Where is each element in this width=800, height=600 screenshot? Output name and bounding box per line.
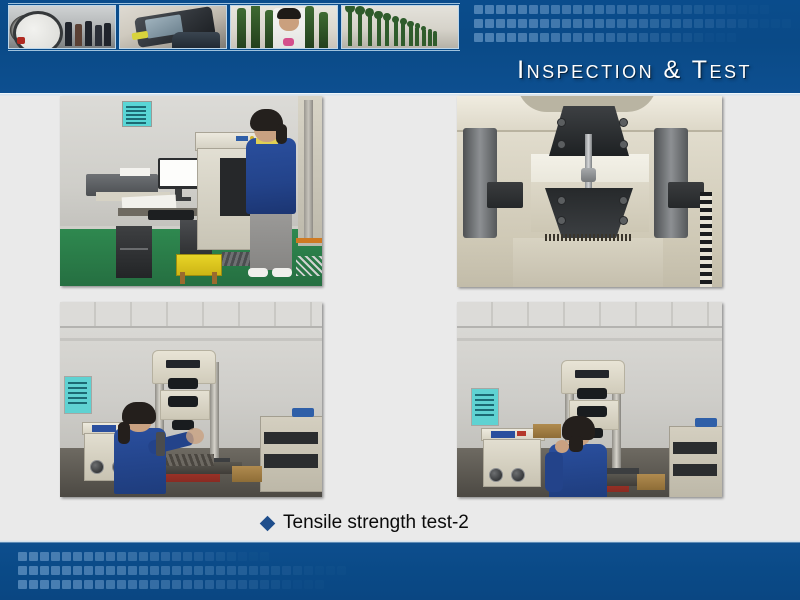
pattern-square — [595, 33, 604, 42]
pattern-square — [573, 33, 582, 42]
pattern-square — [628, 33, 637, 42]
pattern-square — [205, 580, 214, 589]
pattern-square — [716, 19, 725, 28]
debris-line — [545, 234, 631, 241]
column-collar-right — [668, 182, 704, 208]
console-display — [92, 425, 116, 432]
pattern-square — [661, 33, 670, 42]
pattern-square — [139, 552, 148, 561]
pattern-square — [540, 19, 549, 28]
pattern-square — [117, 580, 126, 589]
pattern-square — [672, 5, 681, 14]
pattern-square — [205, 552, 214, 561]
caption-text: Tensile strength test-2 — [283, 512, 469, 534]
pattern-square — [617, 19, 626, 28]
valve-head-shape — [374, 11, 382, 19]
technician-ponytail — [276, 124, 287, 144]
pattern-square — [216, 552, 225, 561]
technician-legs — [250, 212, 292, 270]
pattern-square — [529, 5, 538, 14]
pattern-square — [683, 5, 692, 14]
machine-column — [304, 100, 313, 240]
pattern-square — [106, 552, 115, 561]
pattern-square — [540, 5, 549, 14]
grip-bolt — [557, 216, 566, 225]
pattern-square — [73, 566, 82, 575]
pattern-square — [117, 552, 126, 561]
grip-upper — [168, 378, 198, 389]
pattern-square — [639, 19, 648, 28]
photo-image — [60, 96, 322, 286]
pattern-square — [315, 566, 324, 575]
pattern-square — [738, 19, 747, 28]
bottle-shape — [237, 8, 246, 48]
figure-shape — [104, 23, 111, 46]
wooden-box — [637, 474, 665, 490]
valve-head-shape — [365, 8, 374, 17]
grip-bolt — [619, 118, 628, 127]
pattern-square — [293, 566, 302, 575]
pattern-square — [84, 580, 93, 589]
pattern-square — [507, 33, 516, 42]
photo-bottom-right — [457, 302, 722, 497]
pattern-square — [518, 5, 527, 14]
valve-post-shape — [401, 24, 405, 46]
pattern-square — [617, 33, 626, 42]
pattern-square — [172, 566, 181, 575]
technician-shoe — [248, 268, 268, 277]
stool-leg — [212, 272, 217, 284]
pattern-square — [573, 19, 582, 28]
grip-bolt — [619, 216, 628, 225]
pattern-square — [315, 580, 324, 589]
valve-post-shape — [385, 20, 389, 46]
pattern-square — [271, 580, 280, 589]
pattern-square — [562, 19, 571, 28]
pattern-square — [694, 19, 703, 28]
pattern-square — [584, 19, 593, 28]
pattern-square — [293, 580, 302, 589]
pattern-square — [672, 19, 681, 28]
console-knob — [489, 468, 503, 482]
pattern-square — [529, 19, 538, 28]
valve-post-shape — [394, 22, 398, 46]
pattern-square — [595, 5, 604, 14]
figure-shape — [65, 22, 72, 46]
thumbnail-lab-technician-bottles — [230, 5, 338, 49]
wire-bundle — [296, 256, 322, 276]
technician-hair-shape — [277, 8, 301, 19]
pattern-square — [73, 580, 82, 589]
valve-head-shape — [415, 23, 421, 29]
grip-bolt — [557, 196, 566, 205]
shelf-contents — [264, 454, 318, 468]
pattern-square — [326, 566, 335, 575]
pattern-square — [62, 580, 71, 589]
pattern-square — [672, 33, 681, 42]
pattern-square — [606, 5, 615, 14]
pattern-square — [238, 566, 247, 575]
valve-head-shape — [407, 21, 413, 27]
measuring-scale — [700, 192, 712, 287]
pattern-square — [716, 33, 725, 42]
pattern-square — [150, 552, 159, 561]
pattern-square — [485, 19, 494, 28]
wall-notice-sign — [122, 101, 152, 127]
pattern-square — [29, 566, 38, 575]
pattern-square — [584, 5, 593, 14]
pattern-square — [507, 5, 516, 14]
pattern-square — [650, 19, 659, 28]
machine-accent — [296, 238, 322, 243]
valve-post-shape — [422, 30, 426, 46]
pattern-square — [62, 552, 71, 561]
valve-post-shape — [358, 14, 362, 46]
figure-shape — [85, 21, 92, 46]
pattern-square — [639, 33, 648, 42]
thumbnail-tank-inspection-tour — [8, 5, 116, 49]
pattern-square — [29, 552, 38, 561]
pendant-control — [156, 432, 165, 456]
pattern-square — [183, 566, 192, 575]
pattern-square — [705, 33, 714, 42]
wall-notice-sign — [64, 376, 92, 414]
pattern-square — [183, 580, 192, 589]
equipment-display — [236, 136, 248, 141]
valve-post-shape — [409, 26, 413, 46]
pattern-square — [84, 552, 93, 561]
photo-image — [457, 302, 722, 497]
pattern-square — [260, 552, 269, 561]
thumbnail-green-valve-row — [341, 5, 459, 49]
operator-hand-shape — [172, 32, 220, 48]
pattern-square — [161, 580, 170, 589]
pattern-square — [139, 580, 148, 589]
pattern-square — [562, 33, 571, 42]
technician-shoe — [272, 268, 292, 277]
pattern-square — [51, 552, 60, 561]
pattern-square — [518, 19, 527, 28]
pattern-square — [304, 566, 313, 575]
pattern-square — [18, 580, 27, 589]
pattern-square — [606, 33, 615, 42]
console-knob — [90, 460, 104, 474]
blue-case — [695, 418, 717, 427]
stool-leg — [180, 272, 185, 284]
pattern-square — [661, 19, 670, 28]
valve-post-shape — [428, 32, 432, 46]
pattern-square — [573, 5, 582, 14]
pattern-square — [29, 580, 38, 589]
pattern-square — [194, 552, 203, 561]
pattern-square — [183, 552, 192, 561]
photo-bottom-left — [60, 302, 322, 497]
pattern-square — [249, 580, 258, 589]
valve-head-shape — [392, 16, 399, 23]
pattern-square — [650, 33, 659, 42]
wall-notice-sign — [471, 388, 499, 426]
pattern-square — [95, 552, 104, 561]
pattern-square — [337, 566, 346, 575]
pattern-square — [716, 5, 725, 14]
wall-seam — [457, 338, 722, 341]
grip-bolt — [619, 140, 628, 149]
pattern-square — [95, 580, 104, 589]
pattern-square — [749, 5, 758, 14]
pattern-square — [694, 33, 703, 42]
pattern-square — [18, 566, 27, 575]
photo-top-right — [457, 96, 722, 287]
pattern-square — [628, 5, 637, 14]
pattern-square — [73, 552, 82, 561]
technician-hand — [555, 440, 569, 453]
valve-head-shape — [400, 18, 407, 25]
pattern-square — [172, 580, 181, 589]
wooden-box — [232, 466, 262, 482]
grip-lower — [168, 396, 198, 407]
pattern-square — [727, 19, 736, 28]
ceiling-tiles — [457, 302, 722, 328]
pattern-square — [694, 5, 703, 14]
photo-image — [60, 302, 322, 497]
pattern-square — [496, 19, 505, 28]
bottle-shape — [251, 5, 260, 48]
pattern-square — [150, 580, 159, 589]
pattern-square — [260, 580, 269, 589]
pattern-square — [194, 580, 203, 589]
pattern-square — [139, 566, 148, 575]
pattern-square — [474, 19, 483, 28]
technician-body — [246, 138, 296, 214]
machine-nameplate — [575, 370, 609, 378]
pattern-square — [84, 566, 93, 575]
technician-ponytail — [118, 422, 130, 444]
pattern-square — [683, 33, 692, 42]
pattern-square — [128, 552, 137, 561]
pattern-square — [271, 566, 280, 575]
diamond-bullet-icon — [260, 515, 276, 531]
pattern-square — [529, 33, 538, 42]
pattern-square — [62, 566, 71, 575]
pattern-square — [595, 19, 604, 28]
paper-shape — [120, 168, 150, 176]
valve-head-shape — [433, 31, 437, 35]
technician-ponytail — [569, 436, 583, 452]
machine-base — [513, 238, 663, 287]
pattern-square — [40, 566, 49, 575]
thumbnail-handheld-analyzer — [119, 5, 227, 49]
pattern-square — [705, 5, 714, 14]
pattern-square — [474, 5, 483, 14]
pattern-square — [95, 566, 104, 575]
technician-arm — [545, 452, 563, 492]
pattern-square — [238, 580, 247, 589]
metal-parts — [160, 454, 214, 466]
presentation-slide: Inspection & Test — [0, 0, 800, 600]
column-collar-left — [487, 182, 523, 208]
figure-shape — [95, 25, 102, 46]
valve-head-shape — [355, 6, 364, 15]
pattern-square — [51, 580, 60, 589]
blue-case — [292, 408, 314, 417]
pattern-square — [150, 566, 159, 575]
pattern-square — [727, 5, 736, 14]
machine-nameplate — [166, 360, 200, 368]
photo-top-left — [60, 96, 322, 286]
header-square-pattern — [474, 5, 794, 50]
wall-seam — [60, 338, 322, 341]
pattern-square — [705, 19, 714, 28]
pattern-square — [485, 33, 494, 42]
valve-post-shape — [415, 28, 419, 46]
slide-caption: Tensile strength test-2 — [262, 512, 469, 534]
pattern-square — [40, 552, 49, 561]
storage-shelf — [669, 426, 722, 497]
pattern-square — [771, 19, 780, 28]
header-filmstrip — [8, 3, 460, 51]
grip-bolt — [619, 196, 628, 205]
pattern-square — [227, 566, 236, 575]
valve-post-shape — [377, 18, 381, 46]
pattern-square — [551, 19, 560, 28]
pattern-square — [639, 5, 648, 14]
pattern-square — [749, 19, 758, 28]
shelf-contents — [264, 432, 318, 444]
pattern-square — [496, 33, 505, 42]
pattern-square — [18, 552, 27, 561]
footer-square-pattern — [18, 552, 538, 592]
pattern-square — [617, 5, 626, 14]
specimen-extensometer — [581, 168, 596, 182]
page-title: Inspection & Test — [517, 56, 752, 85]
pattern-square — [161, 552, 170, 561]
ceiling-tiles — [60, 302, 322, 328]
pattern-square — [551, 5, 560, 14]
valve-post-shape — [348, 12, 352, 46]
keyboard-shape — [148, 210, 194, 220]
pattern-square — [249, 552, 258, 561]
slide-footer — [0, 543, 800, 600]
pattern-square — [496, 5, 505, 14]
valve-head-shape — [428, 29, 433, 34]
bottle-shape — [319, 12, 328, 48]
pattern-square — [650, 5, 659, 14]
pattern-square — [282, 566, 291, 575]
pattern-square — [282, 580, 291, 589]
pattern-square — [518, 33, 527, 42]
pattern-square — [117, 566, 126, 575]
pattern-square — [216, 566, 225, 575]
pattern-square — [584, 33, 593, 42]
grip-bolt — [557, 118, 566, 127]
pattern-square — [205, 566, 214, 575]
pattern-square — [227, 580, 236, 589]
console-display — [491, 431, 515, 438]
pattern-square — [260, 566, 269, 575]
pattern-square — [474, 33, 483, 42]
pattern-square — [216, 580, 225, 589]
pattern-square — [485, 5, 494, 14]
monitor-screen — [160, 160, 198, 186]
pattern-square — [551, 33, 560, 42]
pattern-square — [782, 19, 791, 28]
pattern-square — [727, 33, 736, 42]
sample-shape — [283, 38, 294, 46]
valve-head-shape — [421, 26, 426, 31]
slide-header: Inspection & Test — [0, 0, 800, 93]
pattern-square — [562, 5, 571, 14]
pattern-square — [194, 566, 203, 575]
valve-post-shape — [368, 16, 372, 46]
shelf-contents — [673, 464, 717, 476]
pattern-square — [540, 33, 549, 42]
cabinet-shape — [116, 226, 152, 278]
pattern-square — [161, 566, 170, 575]
bottle-shape — [305, 6, 314, 48]
pattern-square — [606, 19, 615, 28]
wooden-box — [533, 424, 561, 438]
pattern-square — [304, 580, 313, 589]
pattern-square — [128, 580, 137, 589]
pattern-square — [760, 5, 769, 14]
pattern-square — [628, 19, 637, 28]
pattern-square — [172, 552, 181, 561]
shelf-contents — [673, 442, 717, 454]
red-marker-shape — [17, 37, 25, 44]
grip-upper — [577, 388, 607, 399]
valve-post-shape — [433, 34, 437, 46]
photo-image — [457, 96, 722, 287]
figure-shape — [75, 24, 82, 46]
pattern-square — [249, 566, 258, 575]
pattern-square — [40, 580, 49, 589]
pattern-square — [683, 19, 692, 28]
pattern-square — [738, 5, 747, 14]
technician-hair — [122, 402, 156, 424]
cabinet-handle — [120, 248, 148, 250]
pattern-square — [106, 566, 115, 575]
pattern-square — [51, 566, 60, 575]
pattern-square — [661, 5, 670, 14]
pattern-square — [227, 552, 236, 561]
pattern-square — [106, 580, 115, 589]
pattern-square — [128, 566, 137, 575]
pattern-square — [507, 19, 516, 28]
technician-hand — [186, 428, 204, 444]
pattern-square — [238, 552, 247, 561]
console-knob — [511, 468, 525, 482]
grip-bolt — [557, 140, 566, 149]
console-indicator — [517, 431, 526, 436]
pattern-square — [760, 19, 769, 28]
